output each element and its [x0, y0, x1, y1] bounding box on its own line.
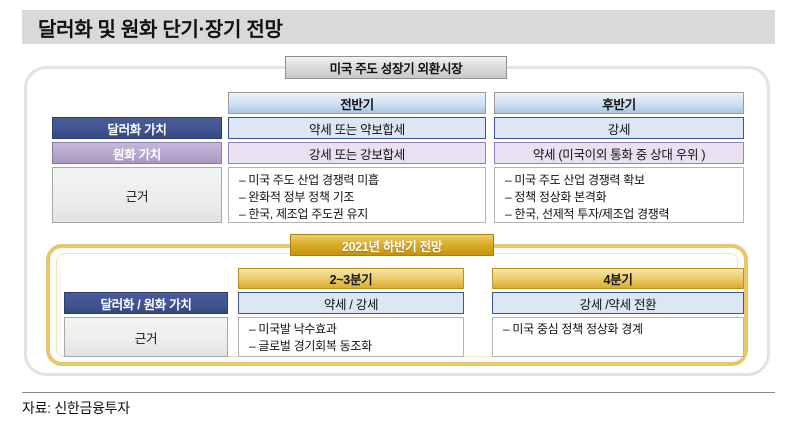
- upper-comparison-grid: 달러화 가치 원화 가치 근거 전반기 약세 또는 약보합세 강세 또는 강보합…: [52, 92, 744, 232]
- upper-label-won-value: 원화 가치: [52, 142, 222, 164]
- rationale-line: – 글로벌 경기회복 동조화: [249, 338, 463, 355]
- lower-column-q23: 2~3분기 약세 / 강세 – 미국발 낙수효과 – 글로벌 경기회복 동조화: [238, 268, 464, 357]
- page-title: 달러화 및 원화 단기·장기 전망: [22, 13, 283, 42]
- lower-label-rationale: 근거: [64, 317, 228, 357]
- rationale-line: – 한국, 선제적 투자/제조업 경쟁력: [505, 206, 743, 223]
- source-note: 자료: 신한금융투자: [22, 398, 130, 418]
- upper-label-rationale: 근거: [52, 167, 222, 223]
- lower-row-label-column: 달러화 / 원화 가치 근거: [64, 268, 228, 357]
- upper-dollar-value-first-half: 약세 또는 약보합세: [228, 117, 486, 139]
- upper-won-value-first-half: 강세 또는 강보합세: [228, 142, 486, 164]
- lower-value-q23: 약세 / 강세: [238, 292, 464, 314]
- rationale-line: – 완화적 정부 정책 기조: [239, 189, 485, 206]
- rationale-line: – 미국 주도 산업 경쟁력 확보: [505, 172, 743, 189]
- footer-divider: [22, 392, 775, 393]
- upper-won-value-second-half: 약세 (미국이외 통화 중 상대 우위 ): [494, 142, 744, 164]
- rationale-line: – 미국 중심 정책 정상화 경계: [503, 321, 743, 338]
- upper-row-label-column: 달러화 가치 원화 가치 근거: [52, 92, 222, 223]
- upper-label-dollar-value: 달러화 가치: [52, 117, 222, 139]
- upper-rationale-second-half: – 미국 주도 산업 경쟁력 확보 – 정책 정상화 본격화 – 한국, 선제적…: [494, 167, 744, 223]
- rationale-line: – 정책 정상화 본격화: [505, 189, 743, 206]
- upper-label-header-spacer: [52, 92, 222, 114]
- lower-label-currency-value: 달러화 / 원화 가치: [64, 292, 228, 314]
- lower-column-q4: 4분기 강세 /약세 전환 – 미국 중심 정책 정상화 경계: [492, 268, 744, 357]
- lower-label-header-spacer: [64, 268, 228, 289]
- upper-rationale-first-half: – 미국 주도 산업 경쟁력 미흡 – 완화적 정부 정책 기조 – 한국, 제…: [228, 167, 486, 223]
- lower-forecast-grid: 달러화 / 원화 가치 근거 2~3분기 약세 / 강세 – 미국발 낙수효과 …: [64, 268, 744, 354]
- upper-header-second-half: 후반기: [494, 92, 744, 114]
- rationale-line: – 미국 주도 산업 경쟁력 미흡: [239, 172, 485, 189]
- upper-section-tab: 미국 주도 성장기 외환시장: [285, 56, 507, 79]
- lower-header-q23: 2~3분기: [238, 268, 464, 289]
- lower-value-q4: 강세 /약세 전환: [492, 292, 744, 314]
- page-title-band: 달러화 및 원화 단기·장기 전망: [22, 10, 775, 44]
- lower-rationale-q4: – 미국 중심 정책 정상화 경계: [492, 317, 744, 357]
- lower-header-q4: 4분기: [492, 268, 744, 289]
- upper-column-second-half: 후반기 강세 약세 (미국이외 통화 중 상대 우위 ) – 미국 주도 산업 …: [494, 92, 744, 223]
- rationale-line: – 미국발 낙수효과: [249, 321, 463, 338]
- lower-rationale-q23: – 미국발 낙수효과 – 글로벌 경기회복 동조화: [238, 317, 464, 357]
- upper-column-first-half: 전반기 약세 또는 약보합세 강세 또는 강보합세 – 미국 주도 산업 경쟁력…: [228, 92, 486, 223]
- rationale-line: – 한국, 제조업 주도권 유지: [239, 206, 485, 223]
- upper-header-first-half: 전반기: [228, 92, 486, 114]
- upper-dollar-value-second-half: 강세: [494, 117, 744, 139]
- lower-section-tab: 2021년 하반기 전망: [290, 234, 494, 256]
